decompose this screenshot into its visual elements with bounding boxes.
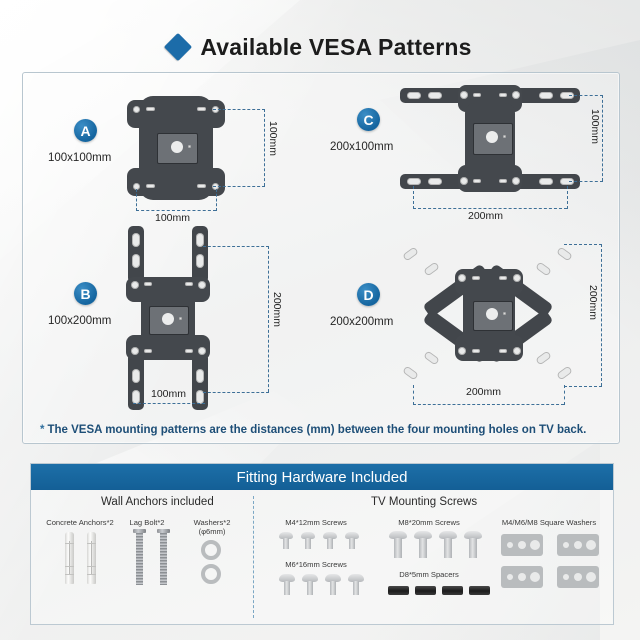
quadrant-size-label-c: 200x100mm: [330, 141, 393, 153]
item-label-spacers: D8*5mm Spacers: [383, 570, 475, 579]
vesa-quadrant-a: A 100x100mm 100mm 100: [23, 73, 321, 228]
dim-guide: [213, 186, 265, 187]
quadrant-height-dim-a: 100mm: [267, 121, 279, 156]
dim-guide: [216, 189, 217, 211]
quadrant-badge-b: B: [74, 282, 97, 305]
quadrant-badge-d: D: [357, 283, 380, 306]
dim-guide: [569, 95, 603, 96]
page-title-text: Available VESA Patterns: [200, 34, 471, 61]
vesa-footnote: *The VESA mounting patterns are the dist…: [40, 424, 600, 436]
item-label-washers: Washers*2 (φ6mm): [179, 518, 245, 537]
quadrant-height-dim-d: 200mm: [587, 285, 599, 320]
dim-guide: [564, 385, 565, 405]
footnote-star: *: [40, 424, 44, 436]
fitting-hardware-header: Fitting Hardware Included: [31, 464, 613, 490]
item-label-lag-bolt: Lag Bolt*2: [109, 518, 185, 527]
quadrant-width-dim-b: 100mm: [151, 388, 186, 400]
dim-guide: [602, 95, 603, 181]
fitting-hardware-body: Wall Anchors included Concrete Anchors*2…: [31, 490, 613, 623]
dim-guide: [564, 386, 602, 387]
quadrant-size-label-d: 200x200mm: [330, 316, 393, 328]
item-label-m6-screws: M6*16mm Screws: [271, 560, 361, 569]
dim-guide: [413, 404, 564, 405]
dim-guide: [564, 244, 602, 245]
footnote-text: The VESA mounting patterns are the dista…: [47, 424, 586, 436]
diamond-icon: [164, 33, 192, 61]
quadrant-size-label-a: 100x100mm: [48, 152, 111, 164]
item-label-m8-screws: M8*20mm Screws: [383, 518, 475, 527]
dim-guide: [413, 208, 567, 209]
quadrant-badge-c: C: [357, 108, 380, 131]
dim-guide: [213, 109, 265, 110]
quadrant-height-dim-b: 200mm: [271, 292, 283, 327]
section-title-tv-screws: TV Mounting Screws: [371, 496, 477, 508]
quadrant-size-label-b: 100x200mm: [48, 315, 111, 327]
item-label-square-washers: M4/M6/M8 Square Washers: [493, 518, 605, 527]
dim-guide: [601, 244, 602, 386]
dim-guide: [268, 246, 269, 392]
quadrant-badge-a: A: [74, 119, 97, 142]
page-title: Available VESA Patterns: [0, 30, 640, 64]
dim-guide: [136, 189, 137, 211]
dim-guide: [133, 403, 205, 404]
dim-guide: [264, 109, 265, 186]
dim-guide: [413, 186, 414, 209]
item-label-m4-screws: M4*12mm Screws: [271, 518, 361, 527]
vesa-quadrant-c: C 200x100mm: [321, 73, 619, 228]
dim-guide: [203, 246, 269, 247]
fitting-hardware-panel: Fitting Hardware Included Wall Anchors i…: [30, 463, 614, 625]
dim-guide: [567, 186, 568, 209]
quadrant-height-dim-c: 100mm: [589, 109, 601, 144]
vesa-quadrant-d: D 200x200mm: [321, 228, 619, 413]
section-title-wall-anchors: Wall Anchors included: [101, 496, 214, 508]
quadrant-width-dim-c: 200mm: [468, 210, 503, 222]
dim-guide: [569, 181, 603, 182]
quadrant-width-dim-a: 100mm: [155, 212, 190, 224]
dim-guide: [203, 392, 269, 393]
item-label-washers-sub: (φ6mm): [199, 527, 226, 536]
quadrant-width-dim-d: 200mm: [466, 386, 501, 398]
vesa-patterns-panel: A 100x100mm 100mm 100: [22, 72, 620, 444]
vesa-quadrant-b: B 100x200mm: [23, 228, 321, 413]
item-label-washers-main: Washers*2: [194, 518, 231, 527]
dim-guide: [136, 210, 216, 211]
dim-guide: [413, 385, 414, 405]
